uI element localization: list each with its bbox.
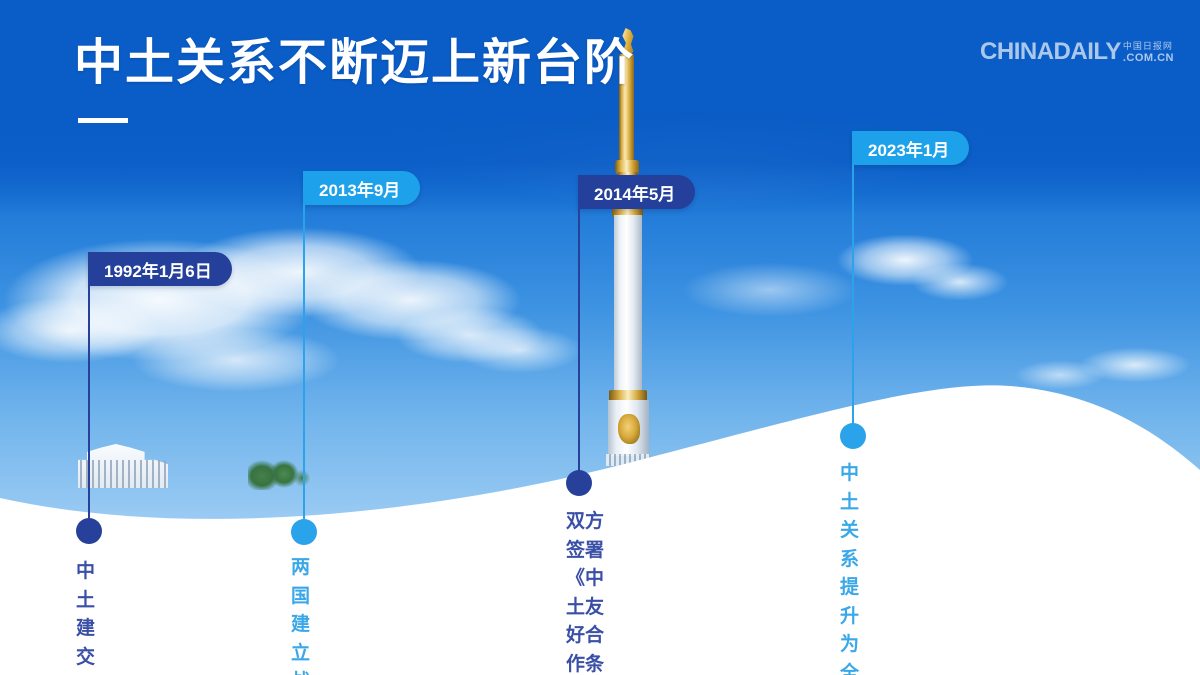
timeline-connector-4	[852, 165, 854, 427]
timeline-connector-2	[303, 205, 305, 523]
logo-wordmark: CHINADAILY	[980, 40, 1121, 64]
timeline-dot-1[interactable]	[76, 518, 102, 544]
timeline-caption-3: 双方签署 《中土友好合作条约》	[566, 508, 604, 675]
timeline-dot-4[interactable]	[840, 423, 866, 449]
title-underline	[78, 118, 128, 123]
timeline-date-badge-4[interactable]: 2023年1月	[852, 131, 969, 165]
logo-secondary: 中国日报网 .COM.CN	[1123, 42, 1174, 64]
timeline-caption-1: 中土建交	[76, 558, 95, 672]
timeline-date-badge-3[interactable]: 2014年5月	[578, 175, 695, 209]
timeline-date-badge-2[interactable]: 2013年9月	[303, 171, 420, 205]
logo-chinese-name: 中国日报网	[1123, 42, 1173, 52]
timeline-caption-2: 两国建立 战略伙伴关系	[291, 554, 310, 675]
timeline-dot-3[interactable]	[566, 470, 592, 496]
timeline-connector-3	[578, 209, 580, 474]
infographic-canvas: 中土关系不断迈上新台阶 CHINADAILY 中国日报网 .COM.CN 199…	[0, 0, 1200, 675]
logo-domain: .COM.CN	[1123, 52, 1174, 64]
timeline-connector-1	[88, 286, 90, 524]
page-title: 中土关系不断迈上新台阶	[74, 36, 635, 91]
timeline-caption-4: 中土关系提升为 全面战略伙伴关系	[840, 460, 859, 675]
timeline-dot-2[interactable]	[291, 519, 317, 545]
timeline-date-badge-1[interactable]: 1992年1月6日	[88, 252, 232, 286]
chinadaily-logo: CHINADAILY 中国日报网 .COM.CN	[980, 40, 1174, 64]
